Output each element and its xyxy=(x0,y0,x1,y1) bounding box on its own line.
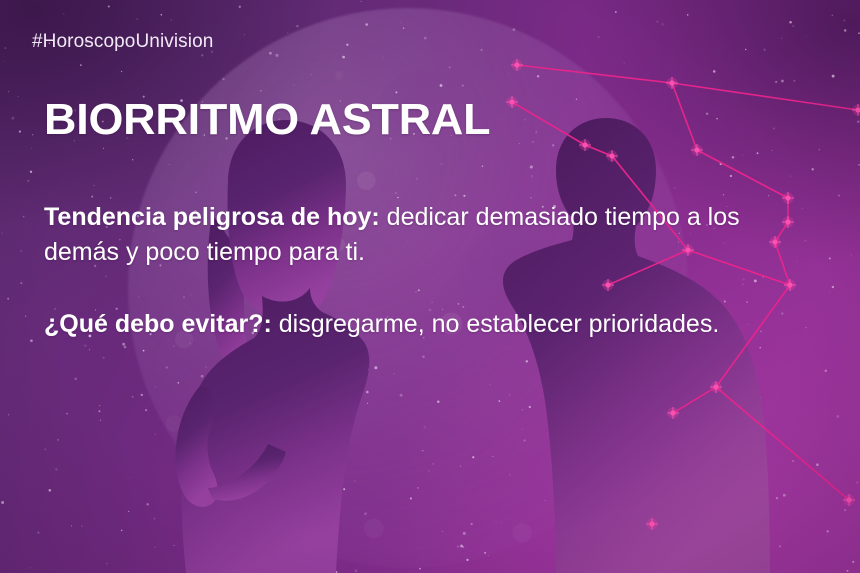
body-text-block: Tendencia peligrosa de hoy: dedicar dema… xyxy=(44,200,792,342)
paragraph-tendencia: Tendencia peligrosa de hoy: dedicar dema… xyxy=(44,200,792,270)
paragraph-evitar-text: disgregarme, no establecer prioridades. xyxy=(272,310,719,338)
paragraph-tendencia-label: Tendencia peligrosa de hoy: xyxy=(44,203,380,231)
page-title: BIORRITMO ASTRAL xyxy=(44,96,490,144)
paragraph-evitar: ¿Qué debo evitar?: disgregarme, no estab… xyxy=(44,307,792,342)
card-content: #HoroscopoUnivision BIORRITMO ASTRAL Ten… xyxy=(0,0,860,573)
paragraph-evitar-label: ¿Qué debo evitar?: xyxy=(44,310,272,338)
hashtag-label: #HoroscopoUnivision xyxy=(32,31,213,53)
horoscope-card: #HoroscopoUnivision BIORRITMO ASTRAL Ten… xyxy=(0,0,860,573)
